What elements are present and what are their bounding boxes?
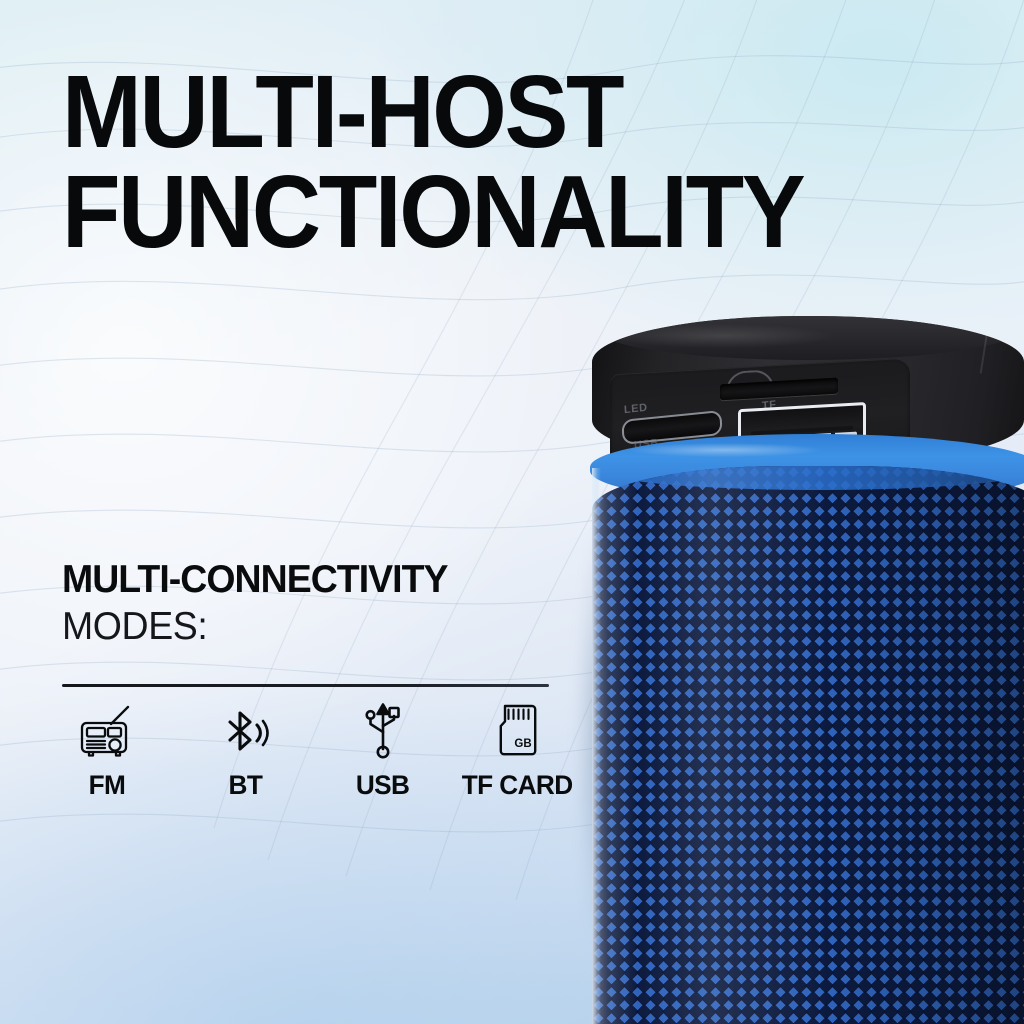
headline-line-2: FUNCTIONALITY xyxy=(62,162,899,262)
product-marketing-image: MULTI-HOSTFUNCTIONALITY MULTI-CONNECTIVI… xyxy=(0,0,1024,1024)
port-label-led: LED xyxy=(624,402,648,416)
speaker-ring-highlight xyxy=(612,442,862,458)
mode-usb: USB xyxy=(340,702,426,801)
divider-rule xyxy=(62,684,549,687)
mode-label-usb: USB xyxy=(356,770,410,801)
subheading-strong: MULTI-CONNECTIVITY xyxy=(62,560,561,601)
tf-card-icon: GB xyxy=(492,702,542,760)
tf-card-gb-text: GB xyxy=(514,738,531,750)
speaker-cap-highlight xyxy=(602,322,902,350)
usb-icon xyxy=(358,702,408,760)
speaker-product-image: TF LED USB LED xyxy=(592,316,1024,1024)
subheading-block: MULTI-CONNECTIVITY MODES: xyxy=(62,560,582,651)
mode-label-bt: BT xyxy=(228,770,262,801)
bluetooth-icon xyxy=(218,702,272,760)
headline: MULTI-HOSTFUNCTIONALITY xyxy=(62,62,899,262)
mode-label-tf-card: TF CARD xyxy=(462,770,573,801)
mode-tf-card: GB TF CARD xyxy=(474,702,560,801)
mode-fm: FM xyxy=(64,702,150,801)
speaker-left-edge-highlight xyxy=(592,468,601,1024)
fm-radio-icon xyxy=(78,702,136,760)
speaker-cylinder-shading xyxy=(592,466,1024,1024)
mode-bt: BT xyxy=(202,702,288,801)
speaker-mesh-body xyxy=(592,466,1024,1024)
subheading-light: MODES: xyxy=(62,603,561,652)
connectivity-modes-row: FM BT xyxy=(56,702,576,801)
headline-line-1: MULTI-HOST xyxy=(62,54,622,169)
mode-label-fm: FM xyxy=(89,770,126,801)
